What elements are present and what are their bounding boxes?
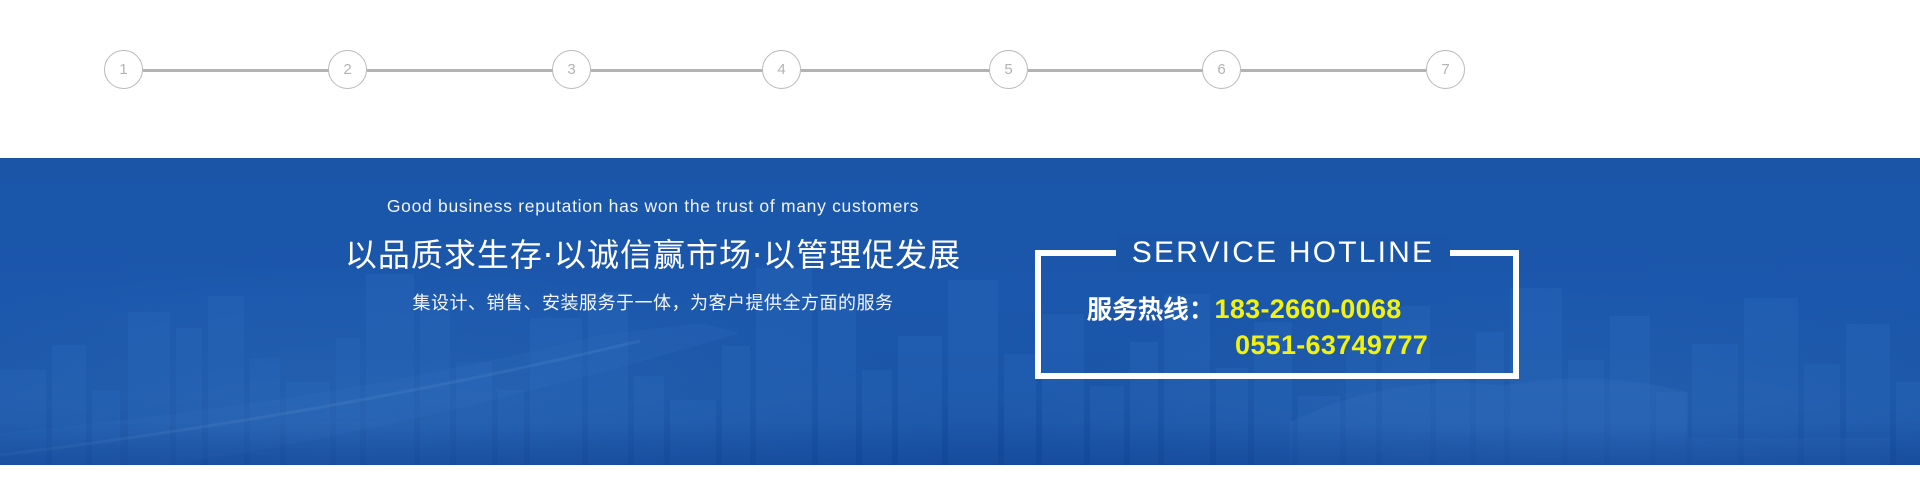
hotline-row-secondary: 0551-63749777: [1041, 330, 1525, 361]
step-connector-line: [1028, 69, 1203, 72]
banner-bottom-shade: [0, 423, 1920, 465]
slogan-headline: 以品质求生存·以诚信赢市场·以管理促发展: [258, 235, 1048, 275]
promo-banner: Good business reputation has won the tru…: [0, 158, 1920, 465]
hotline-numbers: 服务热线： 183-2660-0068 0551-63749777: [1041, 290, 1525, 361]
hotline-row-primary: 服务热线： 183-2660-0068: [1041, 290, 1525, 326]
step-node-6[interactable]: 6: [1202, 50, 1241, 89]
step-connector-line: [1241, 69, 1426, 72]
step-node-label: 5: [1004, 62, 1012, 77]
step-node-2[interactable]: 2: [328, 50, 367, 89]
step-connector-line: [143, 69, 329, 72]
step-node-label: 3: [567, 62, 575, 77]
step-connector-line: [367, 69, 553, 72]
step-progress-bar: 1 2 3 4 5 6 7: [0, 0, 1920, 158]
step-node-4[interactable]: 4: [762, 50, 801, 89]
step-node-label: 7: [1441, 62, 1449, 77]
step-node-1[interactable]: 1: [104, 50, 143, 89]
hotline-number-primary[interactable]: 183-2660-0068: [1215, 294, 1402, 325]
page-root: 1 2 3 4 5 6 7: [0, 0, 1920, 500]
step-node-7[interactable]: 7: [1426, 50, 1465, 89]
slogan-block: Good business reputation has won the tru…: [258, 196, 1048, 315]
step-node-5[interactable]: 5: [989, 50, 1028, 89]
slogan-subline: 集设计、销售、安装服务于一体，为客户提供全方面的服务: [258, 292, 1048, 315]
step-node-label: 2: [343, 62, 351, 77]
step-node-label: 1: [119, 62, 127, 77]
service-hotline-box: SERVICE HOTLINE 服务热线： 183-2660-0068 0551…: [1035, 250, 1519, 379]
step-node-label: 6: [1217, 62, 1225, 77]
step-connector-line: [591, 69, 763, 72]
step-connector-line: [801, 69, 990, 72]
step-node-label: 4: [777, 62, 785, 77]
hotline-label: 服务热线：: [1087, 290, 1215, 326]
slogan-english: Good business reputation has won the tru…: [258, 196, 1048, 217]
step-node-3[interactable]: 3: [552, 50, 591, 89]
hotline-number-secondary[interactable]: 0551-63749777: [1235, 330, 1428, 361]
